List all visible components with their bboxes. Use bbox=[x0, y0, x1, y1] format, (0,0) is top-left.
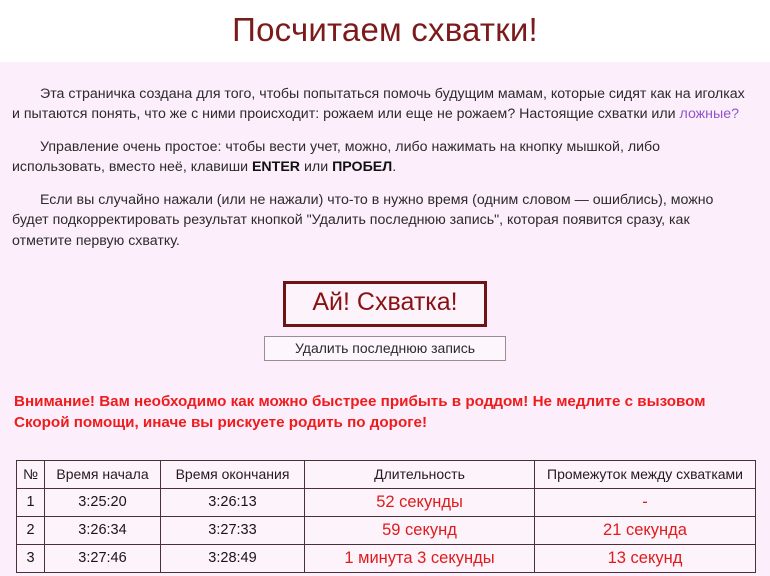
table-row: 3 3:27:46 3:28:49 1 минута 3 секунды 13 … bbox=[17, 544, 756, 572]
controls-area: Ай! Схватка! Удалить последнюю запись bbox=[0, 281, 770, 361]
column-header-end-time: Время окончания bbox=[161, 460, 305, 488]
column-header-number: № bbox=[17, 460, 45, 488]
contraction-button[interactable]: Ай! Схватка! bbox=[283, 281, 486, 327]
cell-number: 3 bbox=[17, 544, 45, 572]
page-title: Посчитаем схватки! bbox=[232, 13, 538, 50]
intro-p2-conj: или bbox=[300, 159, 332, 175]
cell-end-time: 3:26:13 bbox=[161, 488, 305, 516]
cell-interval: - bbox=[535, 488, 756, 516]
cell-end-time: 3:27:33 bbox=[161, 516, 305, 544]
cell-interval: 13 секунд bbox=[535, 544, 756, 572]
column-header-interval: Промежуток между схватками bbox=[535, 460, 756, 488]
intro-paragraph-3: Если вы случайно нажали (или не нажали) … bbox=[12, 190, 752, 251]
table-row: 1 3:25:20 3:26:13 52 секунды - bbox=[17, 488, 756, 516]
intro-section: Эта страничка создана для того, чтобы по… bbox=[0, 62, 770, 251]
page-root: Посчитаем схватки! Эта страничка создана… bbox=[0, 0, 770, 576]
cell-start-time: 3:25:20 bbox=[45, 488, 161, 516]
cell-number: 1 bbox=[17, 488, 45, 516]
intro-paragraph-1: Эта страничка создана для того, чтобы по… bbox=[12, 84, 752, 125]
cell-end-time: 3:28:49 bbox=[161, 544, 305, 572]
cell-number: 2 bbox=[17, 516, 45, 544]
column-header-start-time: Время начала bbox=[45, 460, 161, 488]
delete-last-entry-button[interactable]: Удалить последнюю запись bbox=[264, 336, 506, 361]
cell-duration: 59 секунд bbox=[305, 516, 535, 544]
intro-p1-text: Эта страничка создана для того, чтобы по… bbox=[12, 86, 745, 122]
cell-duration: 1 минута 3 секунды bbox=[305, 544, 535, 572]
cell-interval: 21 секунда bbox=[535, 516, 756, 544]
column-header-duration: Длительность bbox=[305, 460, 535, 488]
header-band: Посчитаем схватки! bbox=[0, 0, 770, 62]
key-enter-label: ENTER bbox=[252, 159, 300, 175]
table-header-row: № Время начала Время окончания Длительно… bbox=[17, 460, 756, 488]
cell-start-time: 3:27:46 bbox=[45, 544, 161, 572]
contractions-table: № Время начала Время окончания Длительно… bbox=[16, 460, 756, 573]
table-row: 2 3:26:34 3:27:33 59 секунд 21 секунда bbox=[17, 516, 756, 544]
cell-start-time: 3:26:34 bbox=[45, 516, 161, 544]
false-contractions-link[interactable]: ложные? bbox=[680, 106, 739, 122]
key-space-label: ПРОБЕЛ bbox=[332, 159, 392, 175]
cell-duration: 52 секунды bbox=[305, 488, 535, 516]
page-body: Эта страничка создана для того, чтобы по… bbox=[0, 62, 770, 576]
warning-message: Внимание! Вам необходимо как можно быстр… bbox=[14, 391, 714, 434]
intro-p2-period: . bbox=[392, 159, 396, 175]
intro-paragraph-2: Управление очень простое: чтобы вести уч… bbox=[12, 137, 752, 178]
